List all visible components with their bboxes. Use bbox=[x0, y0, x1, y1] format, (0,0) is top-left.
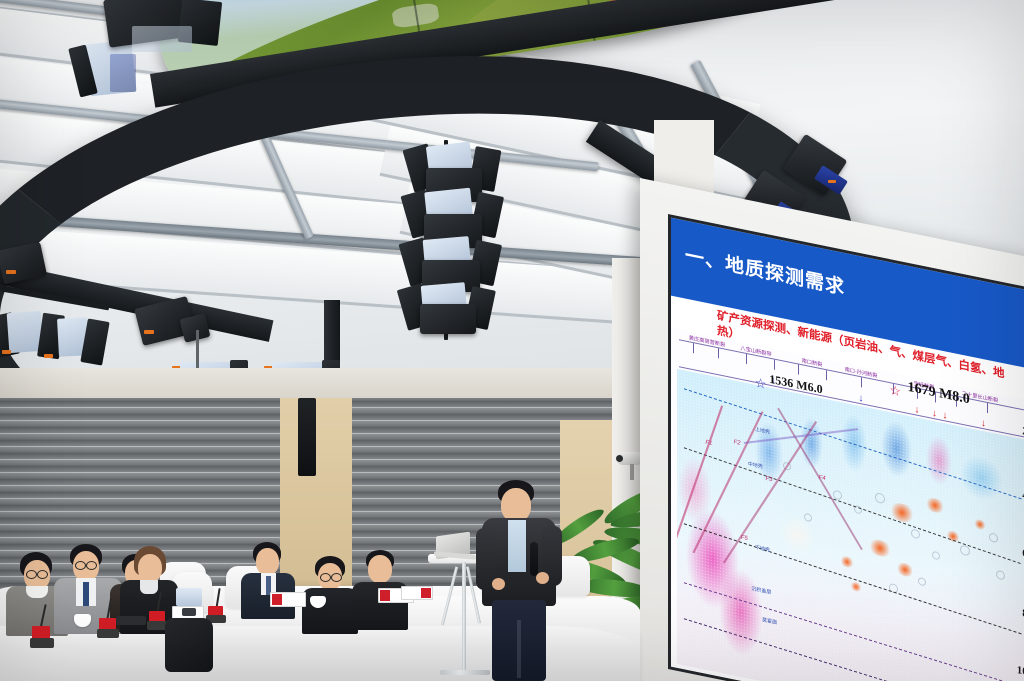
earthquake-marker-icon: ☆ bbox=[755, 375, 767, 393]
presentation-display[interactable]: 一、地质探测需求 矿产资源探测、新能源（页岩油、气、煤层气、白氢、地热） 勘探，… bbox=[668, 214, 1024, 681]
studio-light-top-center bbox=[96, 0, 276, 84]
fault-arrow-icon: ↓ bbox=[932, 408, 937, 420]
fault-arrow-icon: ↓ bbox=[859, 393, 864, 405]
fault-curve-label: F4 bbox=[819, 474, 826, 481]
ceiling-speaker bbox=[298, 398, 316, 476]
presenter-hand bbox=[536, 572, 549, 584]
fault-arrow-icon: ↓ bbox=[915, 404, 920, 416]
name-placard bbox=[401, 586, 433, 600]
fault-curve-label: F1 bbox=[705, 439, 712, 446]
studio-light-cluster-center bbox=[388, 140, 518, 340]
screenshot-root: 一、地质探测需求 矿产资源探测、新能源（页岩油、气、煤层气、白氢、地热） 勘探，… bbox=[0, 0, 1024, 681]
fault-curve-label: F2 bbox=[734, 439, 741, 446]
presenter-blazer-opening bbox=[508, 520, 526, 572]
fault-label: 南口断裂 bbox=[802, 357, 823, 368]
tablet-device bbox=[176, 588, 202, 606]
notebook bbox=[116, 616, 146, 625]
presenter-hand bbox=[492, 578, 505, 590]
name-placard bbox=[270, 592, 306, 607]
fault-arrow-icon: ↓ bbox=[981, 418, 986, 430]
fault-arrow-icon: ↓ bbox=[943, 410, 948, 422]
laptop-stand-leg bbox=[462, 562, 466, 674]
studio-light-ellipsoidal bbox=[128, 296, 218, 366]
handheld-microphone bbox=[530, 542, 538, 576]
presenter bbox=[476, 480, 562, 681]
presenter-leg-gap bbox=[517, 620, 521, 678]
earthquake-marker-icon: ☆ bbox=[889, 382, 901, 400]
studio-light-topleft bbox=[0, 246, 80, 306]
camera-lens-icon bbox=[616, 455, 623, 462]
camera-mount bbox=[630, 464, 634, 480]
fault-curve-label: F5 bbox=[741, 535, 748, 542]
wall-upper-band bbox=[0, 368, 700, 398]
desk-microphone bbox=[28, 604, 54, 650]
smartphone bbox=[182, 608, 196, 616]
backpack bbox=[165, 618, 213, 672]
fault-curve-label: F3 bbox=[766, 475, 773, 482]
